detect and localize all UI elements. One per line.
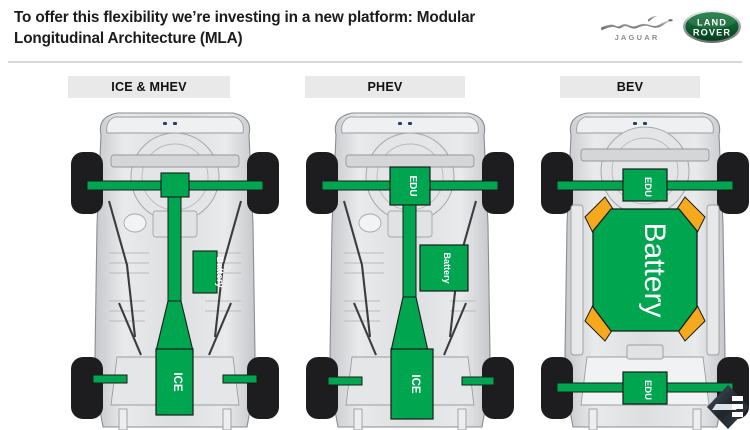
jaguar-logo: JAGUAR [598, 6, 676, 48]
component-battery [193, 251, 217, 293]
wheel-front-right [247, 357, 279, 419]
bumper-rail-left [119, 409, 127, 430]
fuel-filler [124, 214, 146, 232]
corner-watermark [706, 384, 750, 430]
fuel-filler [359, 214, 381, 232]
vehicle-diagram-bev: EDU Battery EDU [527, 105, 750, 430]
rear-sensor [398, 122, 402, 125]
diamond-badge-icon [706, 384, 750, 430]
rear-crossmember [581, 149, 709, 161]
component-label-battery: Battery [638, 222, 671, 317]
sill-right [707, 205, 719, 355]
bumper-rail-left [354, 409, 362, 430]
component-label-battery: Battery [215, 256, 225, 287]
wheel-front-right [482, 357, 514, 419]
rear-sensor [633, 122, 637, 125]
vehicle-underbody-svg: EDU Battery ICE [292, 105, 528, 430]
front-driveshaft-right [462, 377, 494, 385]
front-crossmember [627, 345, 663, 359]
column-header-bev: BEV [560, 76, 700, 98]
vehicle-diagram-ice-mhev: Battery ICE [57, 105, 293, 430]
brand-logos: JAGUAR [594, 4, 744, 50]
title-line-2: Longitudinal Architecture (MLA) [14, 28, 594, 49]
column-header-label: PHEV [367, 80, 402, 94]
landrover-logo: LAND ROVER [682, 8, 742, 45]
vehicle-diagram-phev: EDU Battery ICE [292, 105, 528, 430]
component-label-edu: EDU [407, 175, 418, 196]
page-title: To offer this flexibility we’re investin… [14, 7, 594, 49]
front-driveshaft-left [93, 375, 127, 383]
header-divider [8, 61, 742, 63]
slide-header: To offer this flexibility we’re investin… [0, 0, 750, 62]
jaguar-wordmark: JAGUAR [598, 33, 676, 42]
bumper-rail-right [693, 409, 701, 430]
propshaft [168, 197, 181, 305]
front-driveshaft-right [223, 375, 257, 383]
front-driveshaft-left [328, 377, 362, 385]
bumper-rail-right [223, 409, 231, 430]
component-label-edu-front: EDU [642, 380, 653, 400]
rear-sensor [173, 122, 177, 125]
propshaft [403, 205, 416, 301]
rear-differential [161, 173, 189, 197]
jaguar-leaper-icon [598, 6, 676, 34]
landrover-text-land: LAND [697, 17, 727, 27]
wheel-front-left [306, 357, 338, 419]
rear-crossmember [111, 155, 239, 167]
rear-sensor [163, 122, 167, 125]
wheel-front-left [71, 357, 103, 419]
sill-left [571, 205, 583, 355]
component-label-edu-rear: EDU [642, 177, 653, 197]
vehicle-underbody-svg: EDU Battery EDU [527, 105, 750, 430]
component-label-ice: ICE [409, 374, 421, 394]
rear-sensor [643, 122, 647, 125]
title-line-1: To offer this flexibility we’re investin… [14, 7, 594, 28]
landrover-badge-icon: LAND ROVER [682, 8, 742, 45]
bumper-rail-right [458, 409, 466, 430]
rear-crossmember [346, 155, 474, 167]
vehicle-underbody-svg: Battery ICE [57, 105, 293, 430]
column-header-ice-mhev: ICE & MHEV [68, 76, 230, 98]
column-header-label: ICE & MHEV [111, 80, 186, 94]
component-label-ice: ICE [171, 372, 183, 392]
column-header-phev: PHEV [305, 76, 465, 98]
bumper-rail-left [589, 409, 597, 430]
landrover-text-rover: ROVER [693, 28, 731, 38]
column-header-label: BEV [617, 80, 644, 94]
component-label-battery: Battery [442, 252, 452, 283]
rear-sensor [408, 122, 412, 125]
